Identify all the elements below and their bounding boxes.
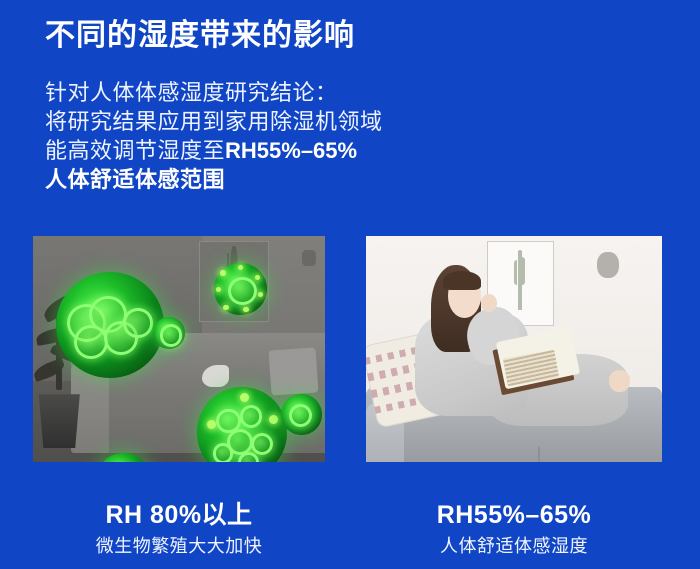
page-title: 不同的湿度带来的影响 (45, 17, 355, 55)
copy-line-4: 人体舒适体感范围 (45, 165, 383, 194)
microbe-blob (214, 263, 267, 315)
virus-spike (220, 270, 225, 275)
virus-spike (238, 265, 243, 270)
virus-spike (269, 415, 278, 424)
virus-spike (207, 420, 216, 429)
photo-high-humidity (33, 236, 325, 462)
microbe-blob (153, 317, 185, 349)
body-copy: 针对人体体感湿度研究结论： 将研究结果应用到家用除湿机领域 能高效调节湿度至RH… (45, 78, 383, 194)
microbe-cell (74, 325, 108, 359)
virus-spike (243, 307, 248, 312)
woman-reading (396, 259, 633, 458)
bright-living-room-scene (366, 236, 662, 462)
virus-spike (258, 292, 263, 297)
caption-subtitle: 微生物繁殖大大加快 (33, 533, 325, 559)
microbe-cell (240, 405, 262, 427)
virus-spike (255, 275, 260, 280)
copy-line-3-prefix: 能高效调节湿度至 (45, 138, 225, 163)
microbe-cell (238, 452, 258, 462)
plant-pot (36, 394, 83, 448)
virus-spike (216, 287, 221, 292)
copy-line-1: 针对人体体感湿度研究结论： (45, 78, 383, 107)
virus-spike (240, 393, 249, 402)
copy-line-3: 能高效调节湿度至RH55%–65% (45, 136, 383, 165)
caption-subtitle: 人体舒适体感湿度 (366, 533, 662, 559)
microbe-cell (228, 277, 257, 306)
microbe-cell (289, 404, 312, 427)
microbe-cell (213, 443, 233, 462)
dim-living-room-scene (33, 236, 325, 462)
caption-comfort-humidity: RH55%–65% 人体舒适体感湿度 (366, 500, 662, 559)
microbe-cell (251, 433, 273, 455)
sofa-cushion (268, 347, 318, 395)
humidity-infographic: 不同的湿度带来的影响 针对人体体感湿度研究结论： 将研究结果应用到家用除湿机领域… (0, 0, 700, 569)
woman-foot (609, 370, 630, 392)
wall-knob (302, 250, 316, 266)
bird-ornament (202, 365, 228, 388)
copy-line-3-highlight: RH55%–65% (225, 138, 357, 163)
virus-spike (223, 305, 228, 310)
copy-line-2: 将研究结果应用到家用除湿机领域 (45, 107, 383, 136)
caption-title: RH 80%以上 (33, 500, 325, 530)
caption-title: RH55%–65% (366, 500, 662, 530)
microbe-blob (281, 394, 322, 435)
microbe-blob (56, 272, 164, 378)
caption-high-humidity: RH 80%以上 微生物繁殖大大加快 (33, 500, 325, 559)
microbe-cell (160, 324, 183, 346)
microbe-cell (123, 308, 153, 337)
woman-hair-fringe (443, 271, 481, 291)
photo-comfort-humidity (366, 236, 662, 462)
